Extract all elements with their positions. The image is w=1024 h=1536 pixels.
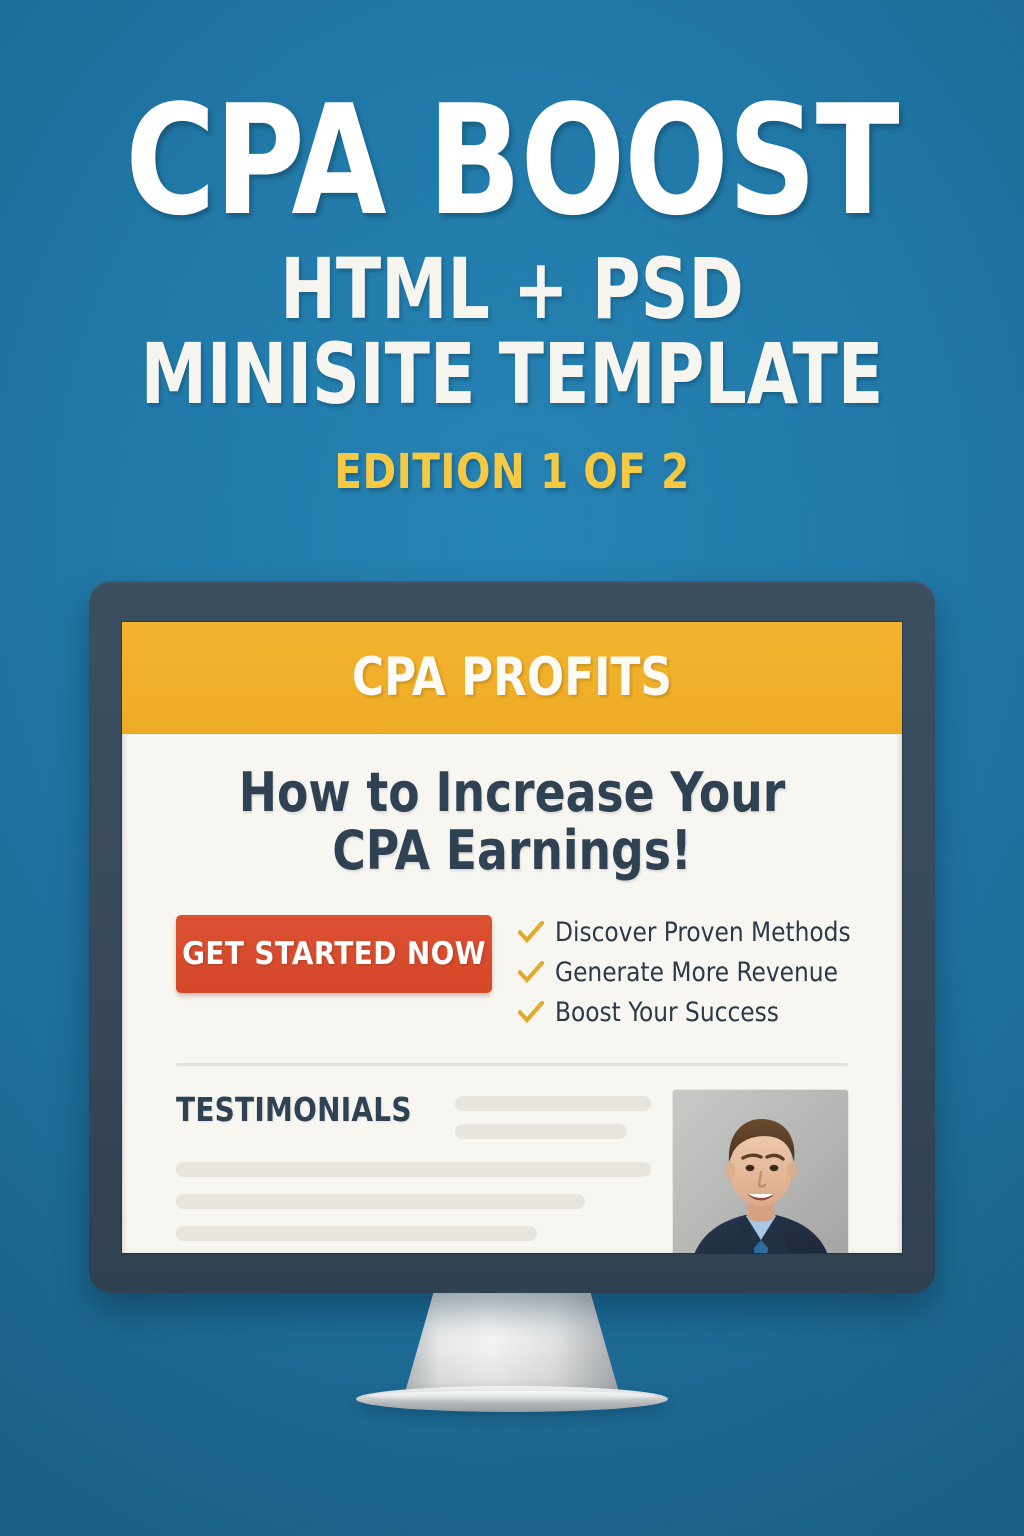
placeholder-bar: [455, 1124, 628, 1139]
placeholder-bar: [455, 1096, 651, 1111]
testimonials-title: TESTIMONIALS: [176, 1090, 412, 1129]
get-started-button[interactable]: GET STARTED NOW: [176, 915, 492, 993]
poster-title: CPA BOOST: [51, 0, 973, 227]
monitor-stand-base: [356, 1386, 668, 1412]
site-header-bar: CPA PROFITS: [122, 622, 902, 734]
hero-text-block: CPA BOOST HTML + PSD MINISITE TEMPLATE E…: [0, 0, 1024, 500]
list-item: Discover Proven Methods: [518, 917, 863, 948]
cta-row: GET STARTED NOW Discover Proven Methods: [176, 881, 848, 1037]
testimonial-avatar-photo: [673, 1090, 848, 1253]
check-icon: [518, 921, 544, 943]
list-item: Generate More Revenue: [518, 957, 863, 988]
placeholder-bar: [176, 1194, 585, 1209]
benefit-label: Boost Your Success: [555, 997, 779, 1028]
monitor-screen: CPA PROFITS How to Increase Your CPA Ear…: [122, 622, 902, 1253]
site-content: How to Increase Your CPA Earnings! GET S…: [122, 734, 902, 1253]
benefits-list: Discover Proven Methods Generate More Re…: [518, 915, 863, 1037]
site-headline-line-1: How to Increase Your: [196, 764, 828, 822]
placeholder-bar: [176, 1162, 651, 1177]
testimonials-heading-row: TESTIMONIALS: [176, 1090, 651, 1152]
poster-edition-label: EDITION 1 OF 2: [31, 418, 994, 500]
placeholder-bars-top: [455, 1090, 651, 1152]
monitor-frame: CPA PROFITS How to Increase Your CPA Ear…: [89, 581, 935, 1293]
poster-canvas: CPA BOOST HTML + PSD MINISITE TEMPLATE E…: [0, 0, 1024, 1536]
avatar: [673, 1090, 848, 1253]
list-item: Boost Your Success: [518, 997, 863, 1028]
monitor-stand-neck: [404, 1290, 620, 1396]
placeholder-bar: [176, 1226, 537, 1241]
site-headline-line-2: CPA Earnings!: [196, 822, 828, 880]
placeholder-bars-lower: [176, 1152, 651, 1241]
site-headline: How to Increase Your CPA Earnings!: [196, 734, 828, 881]
benefit-label: Generate More Revenue: [555, 957, 838, 988]
benefit-label: Discover Proven Methods: [555, 917, 851, 948]
poster-subtitle-line-1: HTML + PSD: [61, 247, 962, 333]
poster-subtitle-line-2: MINISITE TEMPLATE: [61, 332, 962, 418]
poster-subtitle: HTML + PSD MINISITE TEMPLATE: [61, 227, 962, 418]
check-icon: [518, 1001, 544, 1023]
testimonials-section: TESTIMONIALS: [176, 1066, 848, 1253]
check-icon: [518, 961, 544, 983]
site-header-title: CPA PROFITS: [352, 647, 672, 708]
testimonials-text-column: TESTIMONIALS: [176, 1090, 651, 1253]
